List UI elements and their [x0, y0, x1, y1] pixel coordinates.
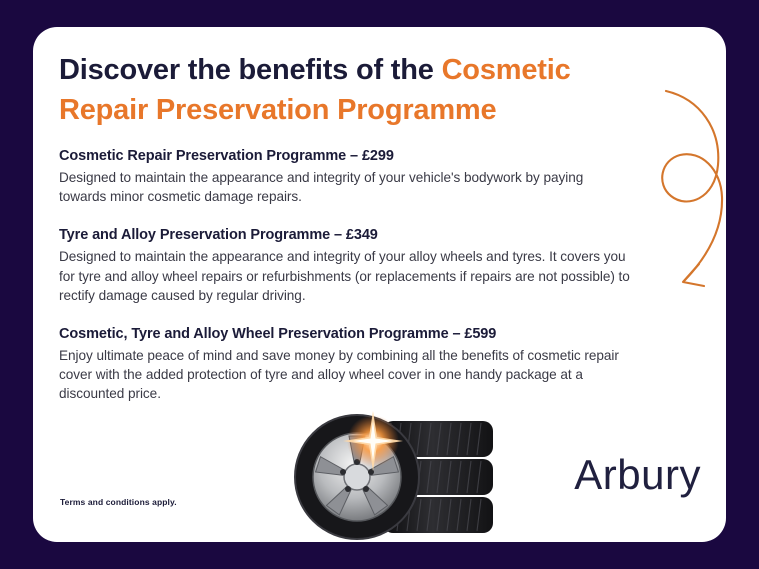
programme-title: Tyre and Alloy Preservation Programme – …: [59, 225, 634, 245]
programme-description: Designed to maintain the appearance and …: [59, 168, 634, 206]
terms-and-conditions-note: Terms and conditions apply.: [60, 497, 177, 507]
programme-title: Cosmetic Repair Preservation Programme –…: [59, 146, 634, 166]
page-title: Discover the benefits of the Cosmetic Re…: [59, 50, 639, 130]
curved-swoosh-arrow-icon: [625, 57, 726, 292]
headline-line2-accent: Repair Preservation Programme: [59, 94, 496, 126]
headline-line1-accent: Cosmetic: [442, 54, 571, 86]
headline-line1-dark: Discover the benefits of the: [59, 54, 442, 86]
brand-logo: Arbury: [574, 454, 701, 496]
programme-title: Cosmetic, Tyre and Alloy Wheel Preservat…: [59, 324, 634, 344]
alloy-wheel-and-tyre-stack-image: [265, 405, 505, 542]
programme-item-cosmetic: Cosmetic Repair Preservation Programme –…: [59, 146, 634, 206]
programme-description: Designed to maintain the appearance and …: [59, 247, 634, 305]
programme-item-combined: Cosmetic, Tyre and Alloy Wheel Preservat…: [59, 324, 634, 404]
programme-list: Cosmetic Repair Preservation Programme –…: [59, 146, 634, 404]
programme-description: Enjoy ultimate peace of mind and save mo…: [59, 346, 634, 404]
programme-item-tyre-alloy: Tyre and Alloy Preservation Programme – …: [59, 225, 634, 305]
promo-card: Discover the benefits of the Cosmetic Re…: [33, 27, 726, 542]
